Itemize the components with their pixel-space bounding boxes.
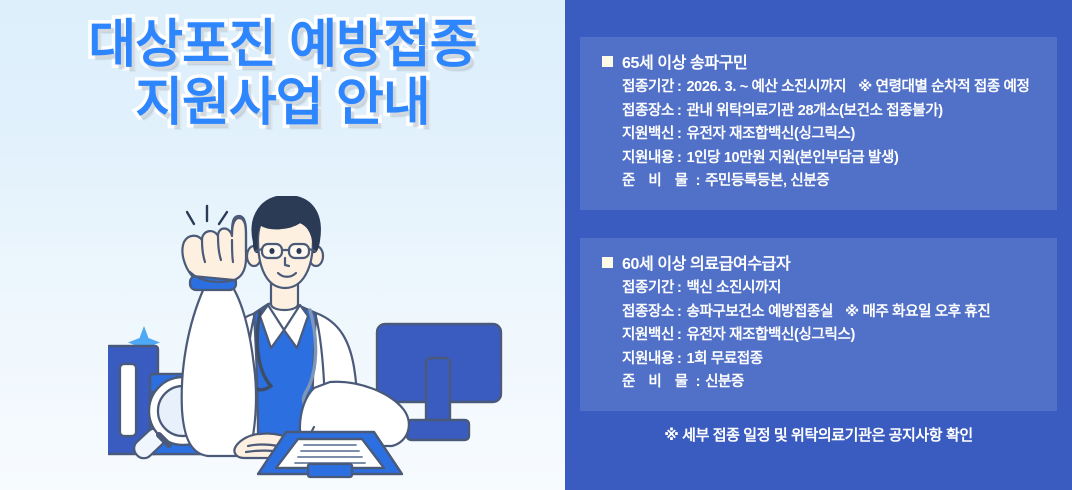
- title-line-1: 대상포진 예방접종: [0, 18, 565, 72]
- detail-row: 접종기간 : 2026. 3. ~ 예산 소진시까지 ※ 연령대별 순차적 접종…: [622, 80, 1057, 95]
- section-heading: 65세 이상 송파구민: [622, 49, 747, 73]
- detail-row-list: 접종기간 : 백신 소진시까지 접종장소 : 송파구보건소 예방접종실 ※ 매주…: [580, 281, 1057, 390]
- detail-label: 지원내용: [622, 151, 674, 166]
- info-section-65: 65세 이상 송파구민 접종기간 : 2026. 3. ~ 예산 소진시까지 ※…: [580, 37, 1057, 210]
- detail-colon: :: [693, 174, 705, 189]
- detail-value: 1인당 10만원 지원(본인부담금 발생): [686, 151, 898, 166]
- info-section-60: 60세 이상 의료급여수급자 접종기간 : 백신 소진시까지 접종장소 : 송파…: [580, 238, 1057, 411]
- detail-colon: :: [674, 352, 686, 367]
- banner-title: 대상포진 예방접종 지원사업 안내: [0, 18, 565, 130]
- detail-label: 지원백신: [622, 328, 674, 343]
- detail-value: 관내 위탁의료기관 28개소(보건소 접종불가): [686, 104, 942, 119]
- footer-note: ※ 세부 접종 일정 및 위탁의료기관은 공지사항 확인: [580, 424, 1057, 445]
- detail-label: 접종장소: [622, 305, 674, 320]
- detail-label: 접종기간: [622, 80, 674, 95]
- doctor-head: [247, 196, 323, 288]
- info-panel: 65세 이상 송파구민 접종기간 : 2026. 3. ~ 예산 소진시까지 ※…: [565, 0, 1072, 490]
- doctor-pointing-illustration: [108, 196, 565, 490]
- detail-row: 접종장소 : 송파구보건소 예방접종실 ※ 매주 화요일 오후 휴진: [622, 305, 1057, 320]
- detail-row: 접종기간 : 백신 소진시까지: [622, 281, 1057, 296]
- detail-label: 지원백신: [622, 127, 674, 142]
- left-visual-pane: 대상포진 예방접종 지원사업 안내: [0, 0, 565, 490]
- detail-row: 준 비 물 : 신분증: [622, 375, 1057, 390]
- detail-note: ※ 매주 화요일 오후 휴진: [833, 305, 990, 320]
- emphasis-lines: [187, 206, 227, 224]
- detail-label: 접종기간: [622, 281, 674, 296]
- bullet-square-icon: [602, 257, 613, 268]
- detail-label: 준 비 물: [622, 375, 693, 390]
- detail-colon: :: [674, 305, 686, 320]
- detail-value: 1회 무료접종: [686, 352, 762, 367]
- detail-colon: :: [674, 281, 686, 296]
- section-heading-row: 65세 이상 송파구민: [580, 49, 1057, 73]
- detail-label: 준 비 물: [622, 174, 693, 189]
- detail-colon: :: [693, 375, 705, 390]
- detail-colon: :: [674, 328, 686, 343]
- detail-label: 지원내용: [622, 352, 674, 367]
- detail-value: 유전자 재조합백신(싱그릭스): [686, 328, 855, 343]
- detail-value: 주민등록등본, 신분증: [705, 174, 829, 189]
- detail-row-list: 접종기간 : 2026. 3. ~ 예산 소진시까지 ※ 연령대별 순차적 접종…: [580, 80, 1057, 189]
- vaccination-info-banner: 대상포진 예방접종 지원사업 안내: [0, 0, 1072, 490]
- detail-colon: :: [674, 151, 686, 166]
- detail-row: 준 비 물 : 주민등록등본, 신분증: [622, 174, 1057, 189]
- detail-row: 지원내용 : 1인당 10만원 지원(본인부담금 발생): [622, 151, 1057, 166]
- detail-colon: :: [674, 80, 686, 95]
- title-line-2: 지원사업 안내: [0, 76, 565, 130]
- detail-label: 접종장소: [622, 104, 674, 119]
- detail-value: 백신 소진시까지: [686, 281, 781, 296]
- detail-row: 지원백신 : 유전자 재조합백신(싱그릭스): [622, 328, 1057, 343]
- detail-value: 2026. 3. ~ 예산 소진시까지: [686, 80, 846, 95]
- detail-row: 접종장소 : 관내 위탁의료기관 28개소(보건소 접종불가): [622, 104, 1057, 119]
- detail-colon: :: [674, 127, 686, 142]
- detail-row: 지원내용 : 1회 무료접종: [622, 352, 1057, 367]
- bullet-square-icon: [602, 56, 613, 67]
- detail-row: 지원백신 : 유전자 재조합백신(싱그릭스): [622, 127, 1057, 142]
- detail-value: 신분증: [705, 375, 744, 390]
- detail-value: 유전자 재조합백신(싱그릭스): [686, 127, 855, 142]
- detail-value: 송파구보건소 예방접종실: [686, 305, 833, 320]
- detail-colon: :: [674, 104, 686, 119]
- section-heading: 60세 이상 의료급여수급자: [622, 250, 790, 274]
- detail-note: ※ 연령대별 순차적 접종 예정: [846, 80, 1029, 95]
- raised-arm: [182, 216, 256, 456]
- section-heading-row: 60세 이상 의료급여수급자: [580, 250, 1057, 274]
